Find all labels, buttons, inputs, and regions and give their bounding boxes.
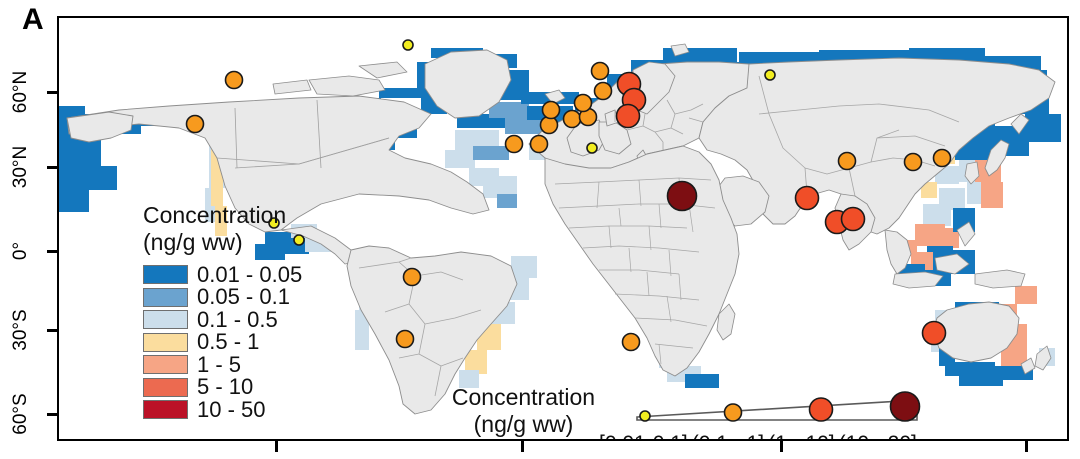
sample-point <box>187 116 204 133</box>
raster-cell <box>1015 286 1037 304</box>
sample-point <box>595 83 612 100</box>
size-legend-bin-label: (10 - 20] <box>839 432 917 441</box>
sample-point <box>905 154 922 171</box>
size-legend-wedge-outline <box>637 400 917 420</box>
arctic-islands-2 <box>273 80 311 94</box>
color-legend-label: 0.01 - 0.05 <box>197 264 302 286</box>
y-tick-mark <box>47 166 57 169</box>
raster-cell <box>445 150 475 168</box>
color-legend-title: Concentration (ng/g ww) <box>143 202 302 256</box>
arctic-islands <box>309 76 385 96</box>
color-legend-swatch <box>143 310 188 329</box>
raster-cell <box>959 374 1003 386</box>
color-legend-row: 5 - 10 <box>143 376 302 399</box>
sample-point <box>531 136 548 153</box>
y-tick-mark <box>47 329 57 332</box>
raster-cell <box>511 256 537 278</box>
alaska <box>67 112 133 142</box>
color-legend-row: 1 - 5 <box>143 353 302 376</box>
color-legend-label: 0.5 - 1 <box>197 331 259 353</box>
sample-point <box>397 331 414 348</box>
size-legend-symbol <box>891 392 920 421</box>
y-tick-mark <box>47 91 57 94</box>
raster-cell <box>473 146 509 160</box>
color-legend-swatch <box>143 333 188 352</box>
raster-cell <box>685 374 719 388</box>
x-tick-mark <box>780 441 783 452</box>
sample-point <box>765 70 775 80</box>
sample-point <box>403 40 413 50</box>
sample-point <box>617 105 640 128</box>
color-legend-swatch <box>143 288 188 307</box>
x-tick-mark <box>275 441 278 452</box>
color-legend-row: 0.1 - 0.5 <box>143 308 302 331</box>
raster-cell <box>505 118 535 134</box>
sample-point <box>668 182 697 211</box>
y-tick-label: 0° <box>10 228 32 274</box>
new-guinea <box>975 270 1025 288</box>
raster-cell <box>497 194 517 208</box>
sample-point <box>923 322 946 345</box>
color-legend-row: 0.01 - 0.05 <box>143 263 302 286</box>
y-tick-label: 30°N <box>10 144 32 190</box>
sample-point <box>796 187 819 210</box>
y-tick-label: 30°S <box>10 307 32 353</box>
size-legend-labels: [0.01-0.1](0.1 - 1](1 - 10](10 - 20] <box>599 432 921 441</box>
y-tick-mark <box>47 413 57 416</box>
panel-label: A <box>22 5 44 35</box>
x-tick-mark <box>521 441 524 452</box>
size-legend-symbol <box>810 398 833 421</box>
sample-point <box>623 334 640 351</box>
new-zealand <box>1035 346 1051 370</box>
sumatra-java <box>893 272 943 288</box>
figure-panel: A 60°N30°N0°30°S60°S Concentration (ng/g… <box>0 0 1080 459</box>
color-legend-label: 1 - 5 <box>197 354 241 376</box>
color-legend-label: 5 - 10 <box>197 376 253 398</box>
color-legend-swatch <box>143 355 188 374</box>
size-legend-title-line2: (ng/g ww) <box>431 411 616 438</box>
raster-cell <box>499 176 517 194</box>
color-legend-label: 0.1 - 0.5 <box>197 309 278 331</box>
sample-point <box>592 63 609 80</box>
color-legend-swatch <box>143 265 188 284</box>
size-legend-symbol <box>640 411 650 421</box>
sample-point <box>575 95 592 112</box>
color-legend-rows: 0.01 - 0.050.05 - 0.10.1 - 0.50.5 - 11 -… <box>143 263 302 421</box>
color-legend-row: 0.05 - 0.1 <box>143 286 302 309</box>
ellesmere <box>359 62 407 78</box>
raster-cell <box>1025 114 1061 142</box>
x-tick-mark <box>1025 441 1028 452</box>
sample-point <box>506 136 523 153</box>
sample-point <box>842 208 865 231</box>
sample-point <box>543 102 560 119</box>
raster-cell <box>981 182 1003 208</box>
y-tick-mark <box>47 250 57 253</box>
raster-cell <box>923 204 951 226</box>
size-legend-wedge <box>629 388 929 430</box>
size-legend-bin-label: (1 - 10] <box>768 432 835 441</box>
size-legend-title: Concentration (ng/g ww) <box>431 384 616 438</box>
raster-cell <box>89 166 117 190</box>
color-legend: Concentration (ng/g ww) 0.01 - 0.050.05 … <box>143 202 302 421</box>
size-legend-bin-label: (0.1 - 1] <box>692 432 764 441</box>
color-legend-swatch <box>143 378 188 397</box>
color-legend-title-line2: (ng/g ww) <box>143 229 302 256</box>
color-legend-row: 10 - 50 <box>143 398 302 421</box>
y-tick-label: 60°N <box>10 69 32 115</box>
size-legend-symbol <box>725 404 742 421</box>
sample-point <box>564 111 581 128</box>
sample-point <box>226 72 243 89</box>
color-legend-title-line1: Concentration <box>143 202 302 229</box>
africa <box>545 146 739 376</box>
sample-point <box>587 143 597 153</box>
color-legend-row: 0.5 - 1 <box>143 331 302 354</box>
y-tick-label: 60°S <box>10 391 32 437</box>
size-legend-bin-label: [0.01-0.1] <box>599 432 688 441</box>
map-plot-area: Concentration (ng/g ww) 0.01 - 0.050.05 … <box>57 16 1069 441</box>
sample-point <box>404 269 421 286</box>
color-legend-label: 10 - 50 <box>197 399 266 421</box>
color-legend-label: 0.05 - 0.1 <box>197 286 290 308</box>
color-legend-swatch <box>143 400 188 419</box>
sample-point <box>839 153 856 170</box>
sample-point <box>934 150 951 167</box>
size-legend-title-line1: Concentration <box>431 384 616 411</box>
raster-cell <box>59 174 89 212</box>
